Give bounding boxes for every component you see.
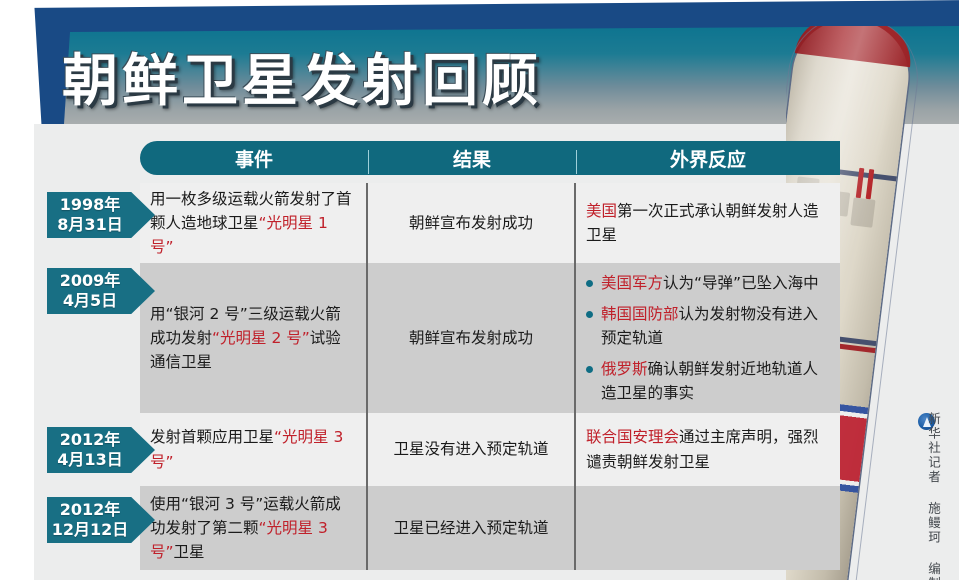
list-item: 俄罗斯确认朝鲜发射近地轨道人造卫星的事实 xyxy=(586,357,830,405)
table-body: 用一枚多级运载火箭发射了首颗人造地球卫星“光明星 1 号”朝鲜宣布发射成功美国第… xyxy=(140,183,840,570)
date-year: 2012年 xyxy=(60,500,143,520)
highlight-text: 美国军方 xyxy=(601,274,663,292)
cell-event: 发射首颗应用卫星“光明星 3 号” xyxy=(140,413,368,486)
table-header-row: 事件 结果 外界反应 xyxy=(140,141,840,175)
table-row: 使用“银河 3 号”运载火箭成功发射了第二颗“光明星 3 号”卫星卫星已经进入预… xyxy=(140,486,840,570)
date-day: 8月31日 xyxy=(57,215,144,235)
table-row: 用一枚多级运载火箭发射了首颗人造地球卫星“光明星 1 号”朝鲜宣布发射成功美国第… xyxy=(140,183,840,263)
reaction-paragraph: 美国第一次正式承认朝鲜发射人造卫星 xyxy=(586,199,830,247)
result-text: 卫星没有进入预定轨道 xyxy=(393,437,548,461)
highlight-text: 韩国国防部 xyxy=(601,305,679,323)
cell-event: 使用“银河 3 号”运载火箭成功发射了第二颗“光明星 3 号”卫星 xyxy=(140,486,368,570)
cell-reaction xyxy=(576,486,840,570)
column-header-result: 结果 xyxy=(368,145,576,172)
cell-reaction: 联合国安理会通过主席声明，强烈谴责朝鲜发射卫星 xyxy=(576,413,840,486)
result-text: 朝鲜宣布发射成功 xyxy=(409,326,533,350)
highlight-text: 联合国安理会 xyxy=(586,428,679,446)
poster-frame-right-cut xyxy=(959,0,973,580)
date-day: 12月12日 xyxy=(52,520,151,540)
reaction-paragraph: 联合国安理会通过主席声明，强烈谴责朝鲜发射卫星 xyxy=(586,425,830,473)
cell-result: 朝鲜宣布发射成功 xyxy=(368,183,576,263)
infographic-poster: 朝鲜卫星发射回顾 事件 结果 xyxy=(0,0,973,580)
cell-event: 用“银河 2 号”三级运载火箭成功发射“光明星 2 号”试验通信卫星 xyxy=(140,263,368,413)
list-item: 韩国国防部认为发射物没有进入预定轨道 xyxy=(586,302,830,350)
column-header-result-label: 结果 xyxy=(453,149,491,171)
body-text: 认为“导弹”已坠入海中 xyxy=(663,274,819,292)
body-text: 发射首颗应用卫星 xyxy=(150,428,274,446)
reaction-bullet-list: 美国军方认为“导弹”已坠入海中韩国国防部认为发射物没有进入预定轨道俄罗斯确认朝鲜… xyxy=(586,271,830,405)
date-year: 2012年 xyxy=(60,430,143,450)
cell-reaction: 美国军方认为“导弹”已坠入海中韩国国防部认为发射物没有进入预定轨道俄罗斯确认朝鲜… xyxy=(576,263,840,413)
header-divider-1 xyxy=(368,150,369,174)
table-row: 发射首颗应用卫星“光明星 3 号”卫星没有进入预定轨道联合国安理会通过主席声明，… xyxy=(140,413,840,486)
credit-text: 新华社记者 施鳗珂 编制 xyxy=(924,412,943,580)
date-year: 2009年 xyxy=(60,271,143,291)
table-row: 用“银河 2 号”三级运载火箭成功发射“光明星 2 号”试验通信卫星朝鲜宣布发射… xyxy=(140,263,840,413)
result-text: 朝鲜宣布发射成功 xyxy=(409,211,533,235)
cell-result: 卫星已经进入预定轨道 xyxy=(368,486,576,570)
cell-reaction: 美国第一次正式承认朝鲜发射人造卫星 xyxy=(576,183,840,263)
cell-result: 朝鲜宣布发射成功 xyxy=(368,263,576,413)
date-year: 1998年 xyxy=(60,195,143,215)
column-header-reaction: 外界反应 xyxy=(576,145,840,172)
highlight-text: 俄罗斯 xyxy=(601,360,648,378)
date-day: 4月5日 xyxy=(63,291,139,311)
column-header-reaction-label: 外界反应 xyxy=(670,149,746,171)
date-day: 4月13日 xyxy=(57,450,144,470)
body-text: 第一次正式承认朝鲜发射人造卫星 xyxy=(586,202,819,244)
cell-event: 用一枚多级运载火箭发射了首颗人造地球卫星“光明星 1 号” xyxy=(140,183,368,263)
column-header-event: 事件 xyxy=(140,145,368,172)
highlight-text: 美国 xyxy=(586,202,617,220)
body-text: 卫星 xyxy=(174,543,205,561)
page-title: 朝鲜卫星发射回顾 xyxy=(62,36,542,117)
timeline-table: 事件 结果 外界反应 用一枚多级运载火箭发射了首颗人造地球卫星“光明星 1 号”… xyxy=(140,141,840,580)
highlight-text: “光明星 2 号” xyxy=(212,329,310,347)
list-item: 美国军方认为“导弹”已坠入海中 xyxy=(586,271,830,295)
result-text: 卫星已经进入预定轨道 xyxy=(393,516,548,540)
header-divider-2 xyxy=(576,150,577,174)
cell-result: 卫星没有进入预定轨道 xyxy=(368,413,576,486)
